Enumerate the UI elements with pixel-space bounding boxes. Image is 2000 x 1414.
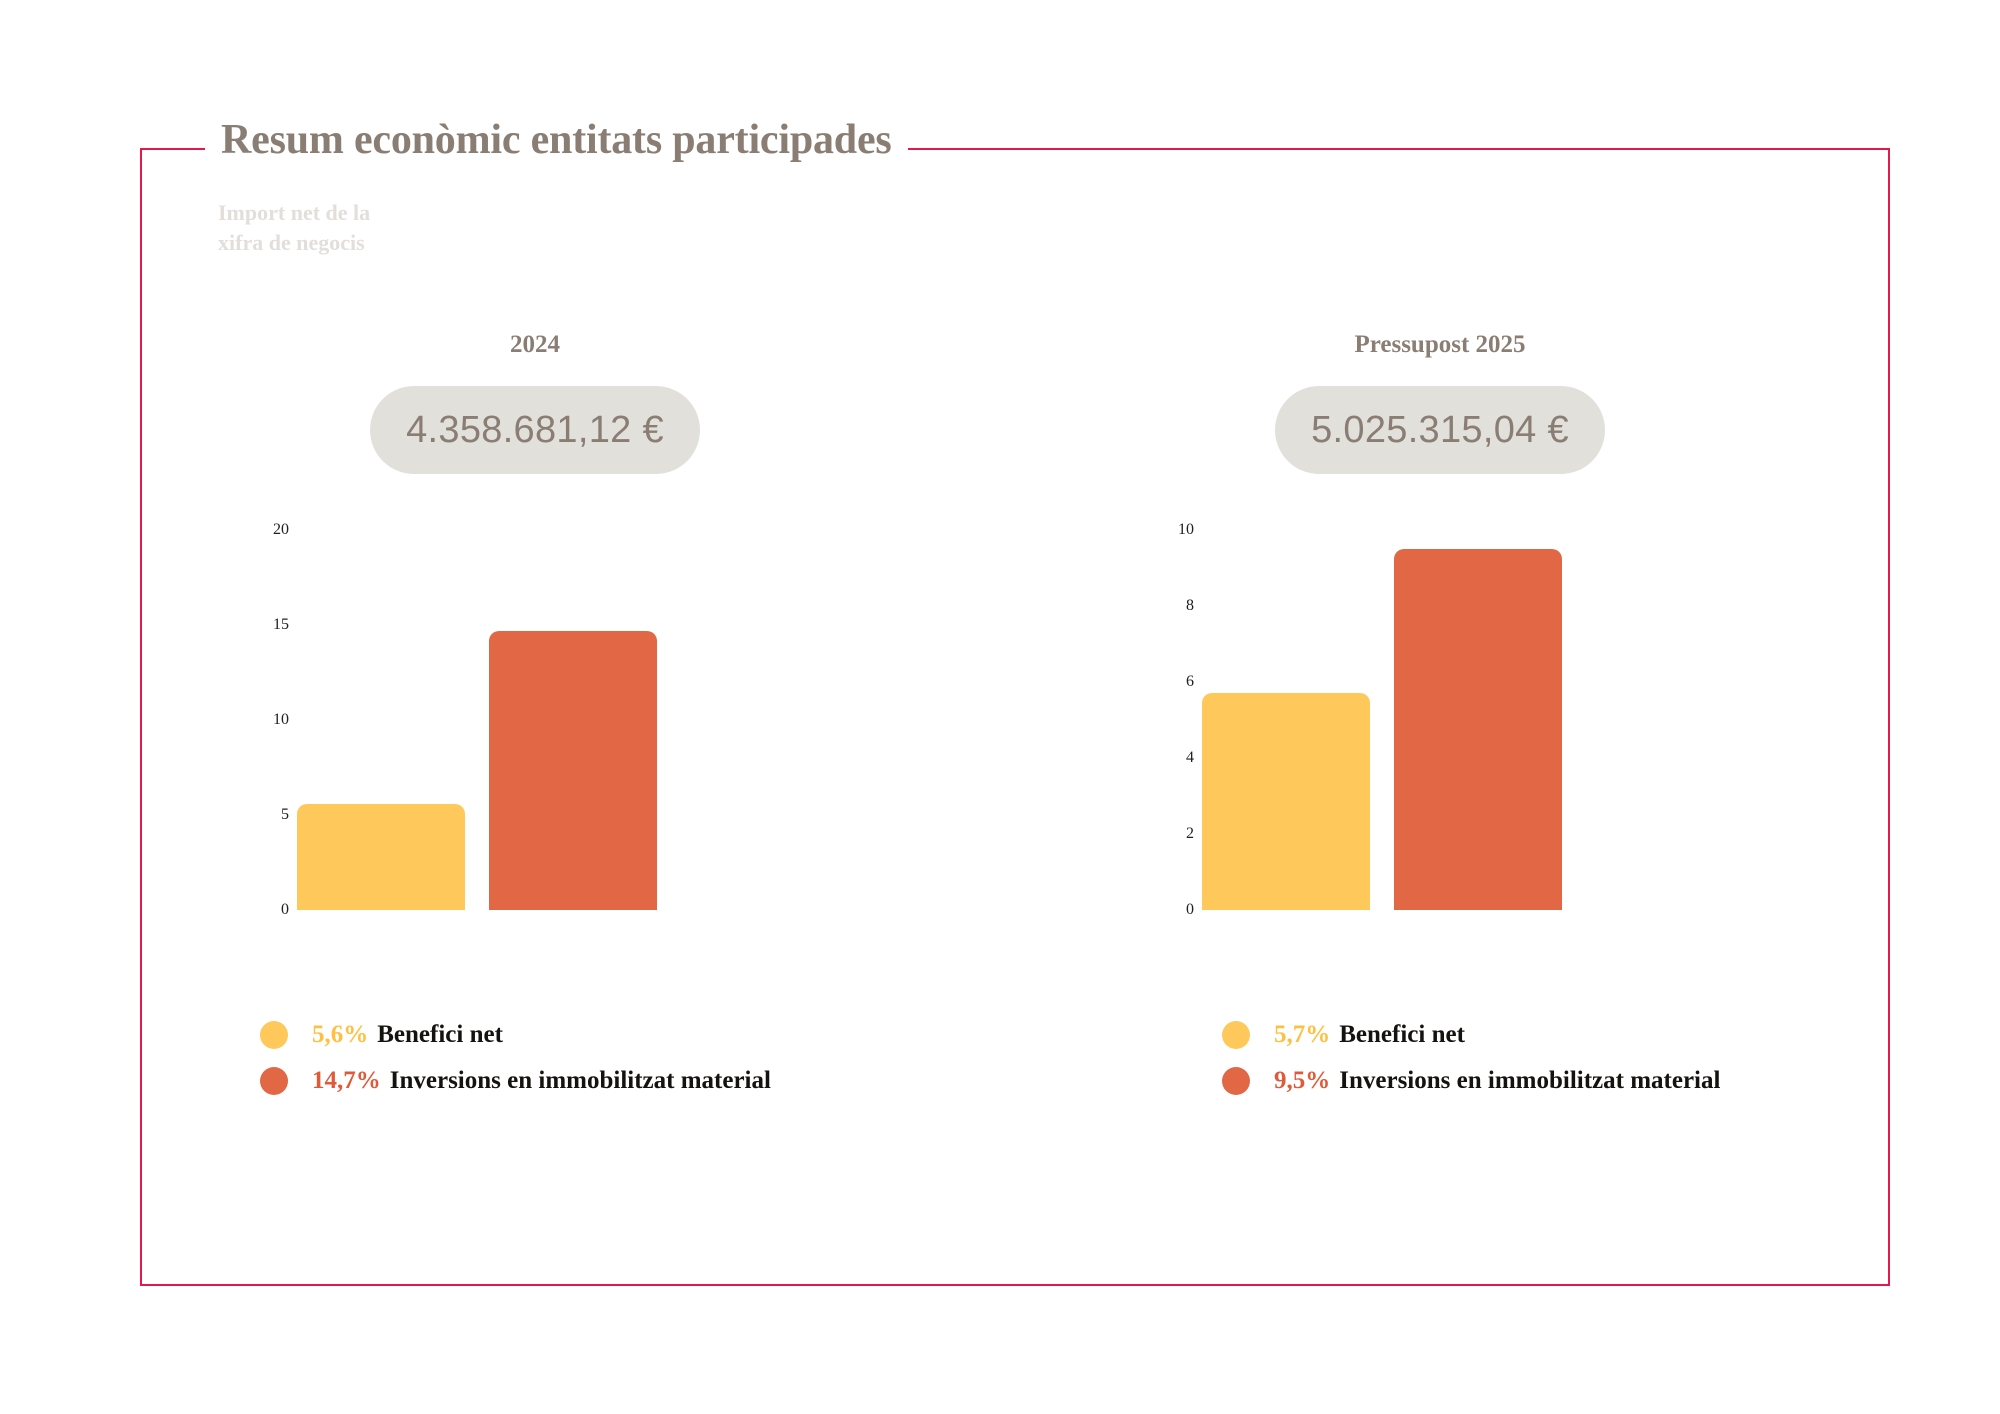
- legend-item: 5,6% Benefici net: [260, 1012, 771, 1058]
- legend-2024: 5,6% Benefici net 14,7% Inversions en im…: [260, 1012, 771, 1104]
- y-tick: 6: [1124, 673, 1194, 691]
- legend-label: Inversions en immobilitzat material: [390, 1067, 771, 1095]
- net-turnover-value-pill: 4.358.681,12 €: [370, 386, 700, 474]
- y-tick: 4: [1124, 749, 1194, 767]
- y-tick: 8: [1124, 597, 1194, 615]
- plot-area: [297, 530, 717, 910]
- card-subtitle: Import net de la xifra de negocis: [218, 198, 370, 259]
- legend-item: 5,7% Benefici net: [1222, 1012, 1720, 1058]
- legend-swatch-icon: [260, 1067, 288, 1095]
- bar-benefici-net: [297, 804, 465, 910]
- legend-percent: 9,5%: [1274, 1067, 1330, 1095]
- y-axis: 20 15 10 5 0: [215, 530, 289, 910]
- legend-pressupost-2025: 5,7% Benefici net 9,5% Inversions en imm…: [1222, 1012, 1720, 1104]
- card-title-container: Resum econòmic entitats participades: [205, 110, 908, 170]
- net-turnover-value-pill: 5.025.315,04 €: [1275, 386, 1605, 474]
- legend-percent: 5,6%: [312, 1021, 368, 1049]
- legend-swatch-icon: [1222, 1021, 1250, 1049]
- y-tick: 2: [1124, 825, 1194, 843]
- y-tick: 0: [219, 901, 289, 919]
- plot-area: [1202, 530, 1622, 910]
- y-tick: 15: [219, 616, 289, 634]
- bar-inversions-immobilitzat: [489, 631, 657, 910]
- panel-title: 2024: [215, 330, 855, 360]
- y-axis: 10 8 6 4 2 0: [1120, 530, 1194, 910]
- bar-benefici-net: [1202, 693, 1370, 910]
- y-tick: 5: [219, 806, 289, 824]
- y-tick: 20: [219, 521, 289, 539]
- bar-inversions-immobilitzat: [1394, 549, 1562, 910]
- y-tick: 10: [1124, 521, 1194, 539]
- legend-label: Benefici net: [377, 1021, 503, 1049]
- page-title: Resum econòmic entitats participades: [221, 119, 892, 161]
- y-tick: 10: [219, 711, 289, 729]
- bar-chart-2024: 20 15 10 5 0: [215, 530, 855, 910]
- legend-item: 14,7% Inversions en immobilitzat materia…: [260, 1058, 771, 1104]
- legend-percent: 14,7%: [312, 1067, 381, 1095]
- legend-swatch-icon: [1222, 1067, 1250, 1095]
- panel-title: Pressupost 2025: [1120, 330, 1760, 360]
- panel-2024: 2024 4.358.681,12 € 20 15 10 5 0: [215, 330, 855, 910]
- legend-swatch-icon: [260, 1021, 288, 1049]
- legend-label: Benefici net: [1339, 1021, 1465, 1049]
- legend-percent: 5,7%: [1274, 1021, 1330, 1049]
- panel-pressupost-2025: Pressupost 2025 5.025.315,04 € 10 8 6 4 …: [1120, 330, 1760, 910]
- y-tick: 0: [1124, 901, 1194, 919]
- legend-label: Inversions en immobilitzat material: [1339, 1067, 1720, 1095]
- bar-chart-pressupost-2025: 10 8 6 4 2 0: [1120, 530, 1760, 910]
- legend-item: 9,5% Inversions en immobilitzat material: [1222, 1058, 1720, 1104]
